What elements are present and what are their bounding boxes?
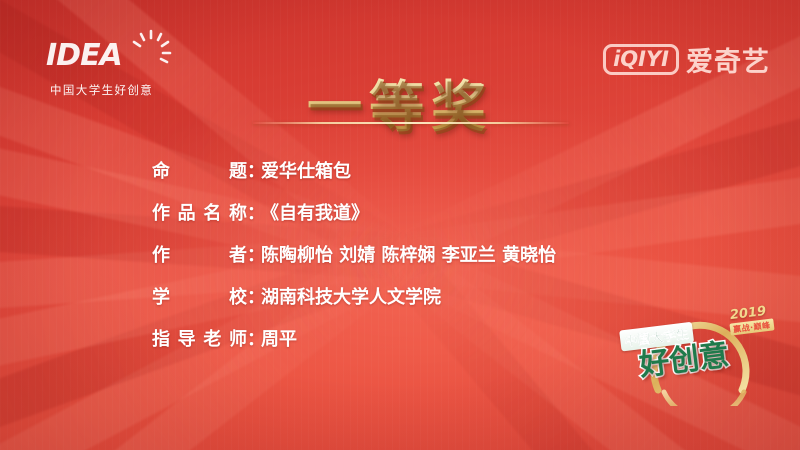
entry-info-row-worktitle: 作品名称 ： 《自有我道》	[152, 200, 556, 227]
entry-label-advisor: 指导老师	[152, 326, 247, 353]
award-slide: IDEA 中国大学生好创意 iQIYI 爱奇艺 一等奖	[0, 0, 800, 450]
entry-colon-topic: ：	[247, 158, 261, 185]
entry-info-list: 命题 ： 爱华仕箱包 作品名称 ： 《自有我道》 作者 ： 陈陶柳怡 刘婧 陈梓…	[152, 158, 556, 368]
event-badge-text: 中国大学生 好创意	[619, 318, 731, 384]
entry-info-row-topic: 命题 ： 爱华仕箱包	[152, 158, 556, 185]
award-title-container: 一等奖	[0, 62, 800, 142]
gold-divider-line	[253, 122, 569, 124]
entry-label-school: 学校	[152, 284, 247, 311]
entry-value-authors: 陈陶柳怡 刘婧 陈梓娴 李亚兰 黄晓怡	[261, 242, 556, 269]
entry-info-row-advisor: 指导老师 ： 周平	[152, 326, 556, 353]
entry-label-topic: 命题	[152, 158, 247, 185]
entry-label-worktitle: 作品名称	[152, 200, 247, 227]
entry-value-worktitle: 《自有我道》	[261, 200, 369, 227]
entry-info-row-authors: 作者 ： 陈陶柳怡 刘婧 陈梓娴 李亚兰 黄晓怡	[152, 242, 556, 269]
entry-label-authors: 作者	[152, 242, 247, 269]
entry-colon-authors: ：	[247, 242, 261, 269]
award-title: 一等奖	[301, 62, 499, 142]
entry-info-row-school: 学校 ： 湖南科技大学人文学院	[152, 284, 556, 311]
entry-colon-school: ：	[247, 284, 261, 311]
entry-value-topic: 爱华仕箱包	[261, 158, 351, 185]
entry-value-school: 湖南科技大学人文学院	[261, 284, 441, 311]
entry-value-advisor: 周平	[261, 326, 297, 353]
entry-colon-advisor: ：	[247, 326, 261, 353]
event-badge: 2019 赢战·巅峰 中国大学生 好创意	[608, 298, 788, 408]
entry-colon-worktitle: ：	[247, 200, 261, 227]
